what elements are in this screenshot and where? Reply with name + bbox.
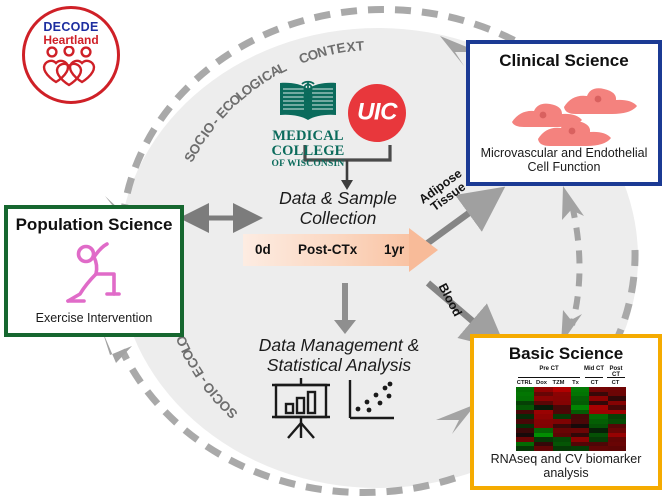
clinical-science-caption: Microvascular and Endothelial Cell Funct…	[470, 146, 658, 176]
data-management-line-1: Data Management &	[233, 336, 445, 356]
basic-science-title: Basic Science	[474, 344, 658, 364]
basic-science-caption-line-1: RNAseq and CV biomarker	[474, 452, 658, 467]
basic-science-caption: RNAseq and CV biomarker analysis	[474, 452, 658, 482]
scatter-plot-icon	[350, 380, 394, 418]
heatmap-group-header-0: Pre CT	[516, 366, 582, 372]
study-timeline-arrow: 0d Post-CTx 1yr	[243, 234, 438, 266]
population-science-box[interactable]: Population Science Exercise Intervention	[4, 205, 184, 337]
heatmap-cell	[589, 446, 607, 451]
uic-label: UIC	[348, 98, 406, 126]
heatmap-cell	[571, 446, 589, 451]
heatmap-grid	[516, 387, 626, 451]
context-label-char: T	[356, 38, 365, 54]
heatmap-cell	[608, 446, 626, 451]
clinical-science-title: Clinical Science	[470, 51, 658, 71]
heatmap-group-header-1: Mid CT	[584, 366, 604, 372]
data-sample-collection-line-2: Collection	[243, 209, 433, 229]
endothelial-cells-icon	[494, 84, 646, 146]
uic-logo: UIC	[348, 84, 406, 142]
timeline-start-label: 0d	[255, 242, 271, 257]
population-science-caption: Exercise Intervention	[8, 311, 180, 326]
basic-science-box[interactable]: Basic Science Pre CT Mid CT Post CT CTRL…	[470, 334, 662, 490]
population-science-title: Population Science	[8, 215, 180, 235]
heatmap-column-0: CTRL	[516, 380, 533, 386]
timeline-middle-label: Post-CTx	[298, 242, 357, 257]
logo-decode-text: DECODE	[22, 20, 120, 34]
heatmap-cell	[516, 446, 534, 451]
heatmap-cell	[534, 446, 552, 451]
logo-heartland-text: Heartland	[22, 33, 120, 47]
clinical-science-box[interactable]: Clinical Science Microvascular and Endot…	[466, 40, 662, 186]
decode-heartland-logo: DECODE Heartland	[22, 6, 120, 104]
center-down-arrow-head	[334, 320, 356, 334]
clinical-science-caption-line-1: Microvascular and Endothelial	[470, 146, 658, 161]
clinical-basic-dashed-link	[572, 205, 580, 325]
heatmap-column-3: Tx	[567, 380, 584, 386]
timeline-arrowhead	[409, 228, 438, 272]
rnaseq-heatmap: Pre CT Mid CT Post CT CTRL Dox TZM Tx CT…	[516, 366, 626, 451]
heatmap-cell	[553, 446, 571, 451]
data-management-line-2: Statistical Analysis	[233, 356, 445, 376]
mcw-book-caduceus-icon	[262, 80, 354, 124]
statistical-analysis-icons	[268, 378, 408, 440]
data-sample-collection-line-1: Data & Sample	[243, 189, 433, 209]
heatmap-column-5: CT	[605, 380, 626, 386]
study-design-diagram: SOCIO-ECOLOGICAL CONTEXT SOCIO-ECOLOGICA…	[0, 0, 669, 498]
heatmap-column-headers: CTRL Dox TZM Tx CT CT	[516, 380, 626, 386]
mcw-line-3: OF WISCONSIN	[262, 160, 354, 170]
timeline-end-label: 1yr	[384, 242, 404, 257]
clinical-science-caption-line-2: Cell Function	[470, 160, 658, 175]
basic-science-caption-line-2: analysis	[474, 466, 658, 481]
mcw-line-2: COLLEGE	[262, 144, 354, 159]
data-management-label: Data Management & Statistical Analysis	[233, 336, 445, 375]
heatmap-column-1: Dox	[533, 380, 550, 386]
medical-college-of-wisconsin-logo: MEDICAL COLLEGE OF WISCONSIN	[262, 80, 354, 169]
heatmap-group-rules	[516, 377, 626, 380]
exercise-stretch-figure-icon	[64, 239, 136, 305]
bar-chart-presentation-icon	[272, 378, 330, 438]
logo-hearts-people-icon	[41, 46, 97, 88]
heatmap-column-2: TZM	[550, 380, 567, 386]
heatmap-group-headers: Pre CT Mid CT Post CT	[516, 366, 626, 377]
heatmap-column-4: CT	[584, 380, 605, 386]
data-sample-collection-label: Data & Sample Collection	[243, 189, 433, 228]
mcw-line-1: MEDICAL	[262, 129, 354, 144]
